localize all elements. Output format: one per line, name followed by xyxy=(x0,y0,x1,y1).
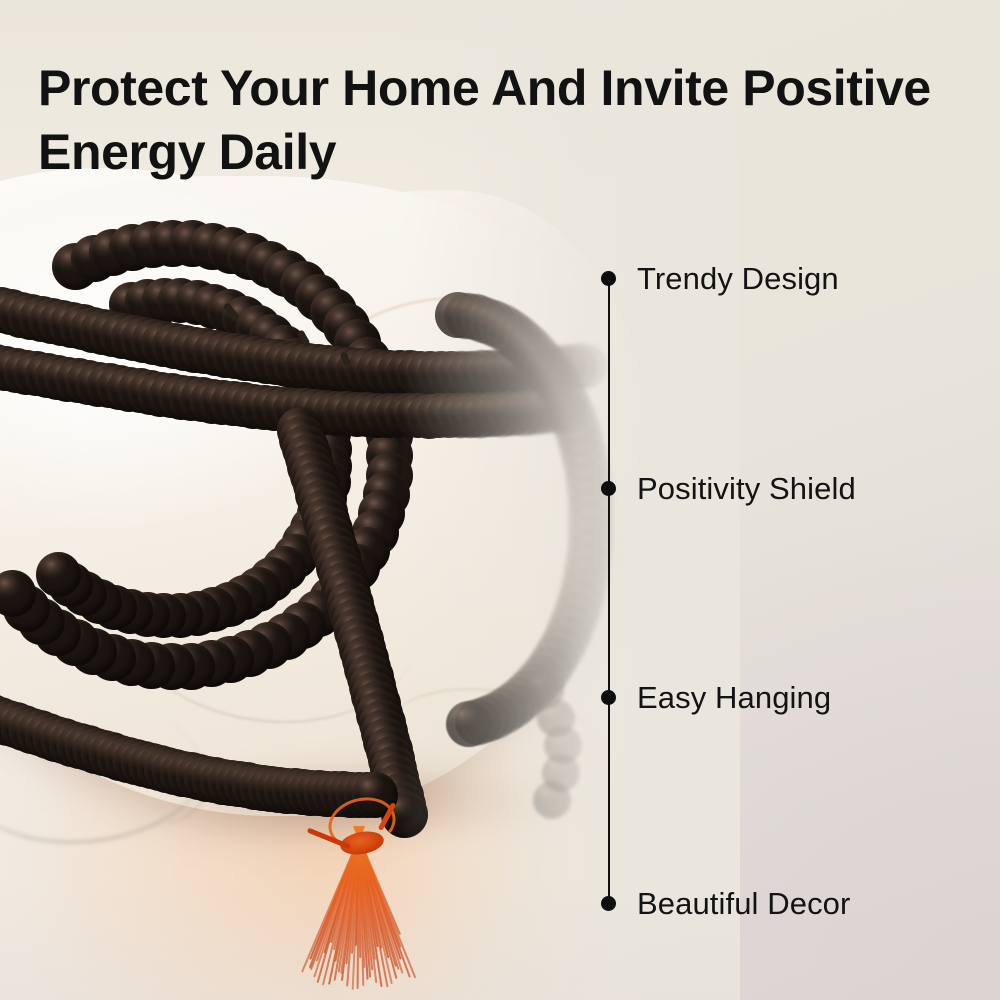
feature-timeline: Trendy DesignPositivity ShieldEasy Hangi… xyxy=(601,278,981,903)
feature-item-1: Trendy Design xyxy=(601,268,839,288)
timeline-dot-icon xyxy=(601,896,616,911)
page-title: Protect Your Home And Invite Positive En… xyxy=(38,56,968,184)
timeline-dot-icon xyxy=(601,690,616,705)
timeline-axis xyxy=(608,278,610,903)
feature-label: Trendy Design xyxy=(637,263,839,294)
orange-tassel xyxy=(300,792,540,992)
feature-label: Positivity Shield xyxy=(637,473,856,504)
mala-bead xyxy=(36,552,81,597)
feature-item-4: Beautiful Decor xyxy=(601,893,850,913)
timeline-dot-icon xyxy=(601,271,616,286)
timeline-dot-icon xyxy=(601,481,616,496)
feature-item-2: Positivity Shield xyxy=(601,478,856,498)
promo-banner: Protect Your Home And Invite Positive En… xyxy=(0,0,1000,1000)
feature-label: Beautiful Decor xyxy=(637,888,850,919)
feature-label: Easy Hanging xyxy=(637,682,831,713)
feature-item-3: Easy Hanging xyxy=(601,687,831,707)
mala-bead xyxy=(446,701,492,747)
